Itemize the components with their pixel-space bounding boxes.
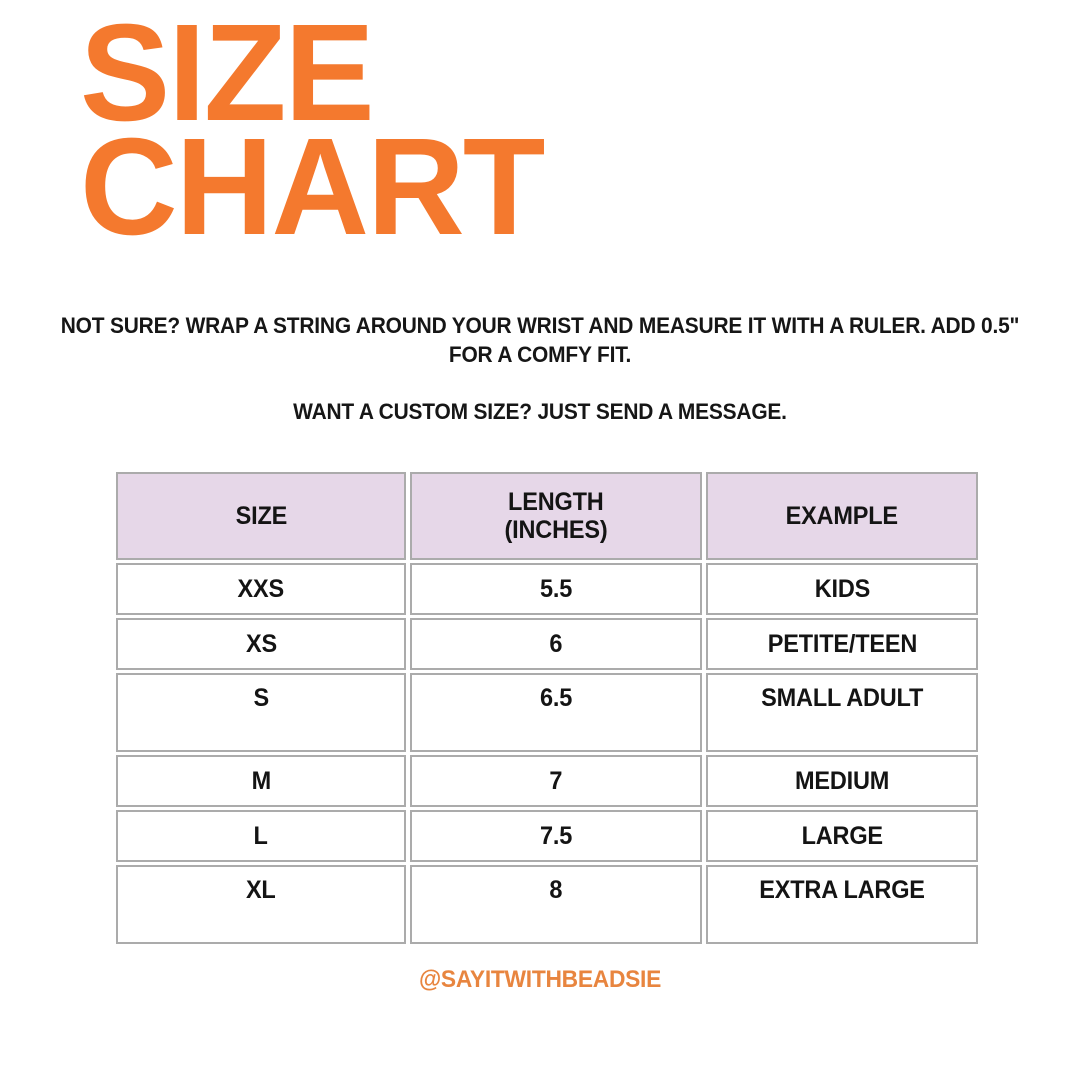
cell-example-value: MEDIUM bbox=[795, 767, 889, 796]
table-body: XXS 5.5 KIDS XS 6 PETITE/TEEN S 6.5 SMAL… bbox=[116, 563, 978, 944]
cell-example: EXTRA LARGE bbox=[706, 865, 978, 944]
size-chart-page: SIZE CHART NOT SURE? WRAP A STRING AROUN… bbox=[0, 0, 1080, 1080]
cell-example-value: EXTRA LARGE bbox=[759, 876, 924, 905]
cell-length: 6 bbox=[410, 618, 702, 670]
intro-paragraph-custom-size: WANT A CUSTOM SIZE? JUST SEND A MESSAGE. bbox=[45, 398, 1035, 427]
cell-size-value: M bbox=[251, 767, 270, 796]
cell-example: LARGE bbox=[706, 810, 978, 862]
cell-length-value: 8 bbox=[550, 876, 563, 905]
table-row: XXS 5.5 KIDS bbox=[116, 563, 978, 615]
cell-length-value: 7.5 bbox=[540, 822, 572, 851]
cell-example: KIDS bbox=[706, 563, 978, 615]
column-header-example: EXAMPLE bbox=[706, 472, 978, 560]
cell-length: 6.5 bbox=[410, 673, 702, 752]
cell-example: MEDIUM bbox=[706, 755, 978, 807]
cell-size: XL bbox=[116, 865, 406, 944]
table-header: SIZE LENGTH (INCHES) EXAMPLE bbox=[116, 472, 978, 560]
cell-size: XS bbox=[116, 618, 406, 670]
column-header-length-label: LENGTH bbox=[508, 488, 603, 516]
cell-length: 8 bbox=[410, 865, 702, 944]
cell-example-value: KIDS bbox=[814, 575, 869, 604]
social-handle: @SAYITWITHBEADSIE bbox=[27, 966, 1053, 994]
cell-example-value: PETITE/TEEN bbox=[767, 630, 916, 659]
cell-length: 5.5 bbox=[410, 563, 702, 615]
table-row: M 7 MEDIUM bbox=[116, 755, 978, 807]
cell-length-value: 6 bbox=[550, 630, 563, 659]
cell-size-value: L bbox=[254, 822, 268, 851]
cell-example: SMALL ADULT bbox=[706, 673, 978, 752]
column-header-size-label: SIZE bbox=[235, 502, 286, 530]
table-row: XL 8 EXTRA LARGE bbox=[116, 865, 978, 944]
cell-length-value: 6.5 bbox=[540, 684, 572, 713]
cell-size-value: XXS bbox=[238, 575, 284, 604]
cell-length-value: 7 bbox=[550, 767, 563, 796]
title-line-chart: CHART bbox=[80, 132, 962, 242]
cell-example: PETITE/TEEN bbox=[706, 618, 978, 670]
cell-size: L bbox=[116, 810, 406, 862]
cell-length: 7 bbox=[410, 755, 702, 807]
intro-paragraph-measure: NOT SURE? WRAP A STRING AROUND YOUR WRIS… bbox=[45, 312, 1035, 370]
table-row: S 6.5 SMALL ADULT bbox=[116, 673, 978, 752]
cell-size-value: XL bbox=[246, 876, 276, 905]
cell-length: 7.5 bbox=[410, 810, 702, 862]
cell-size: S bbox=[116, 673, 406, 752]
cell-size-value: S bbox=[253, 684, 268, 713]
column-header-size: SIZE bbox=[116, 472, 406, 560]
cell-length-value: 5.5 bbox=[540, 575, 572, 604]
column-header-length: LENGTH (INCHES) bbox=[410, 472, 702, 560]
page-title: SIZE CHART bbox=[80, 18, 980, 243]
cell-example-value: LARGE bbox=[801, 822, 882, 851]
column-header-example-label: EXAMPLE bbox=[786, 502, 898, 530]
column-header-length-units: (INCHES) bbox=[421, 516, 692, 544]
cell-example-value: SMALL ADULT bbox=[761, 684, 923, 713]
cell-size-value: XS bbox=[246, 630, 277, 659]
size-chart-table: SIZE LENGTH (INCHES) EXAMPLE XXS 5.5 KID… bbox=[112, 469, 982, 947]
table-row: L 7.5 LARGE bbox=[116, 810, 978, 862]
table-row: XS 6 PETITE/TEEN bbox=[116, 618, 978, 670]
cell-size: XXS bbox=[116, 563, 406, 615]
table-header-row: SIZE LENGTH (INCHES) EXAMPLE bbox=[116, 472, 978, 560]
cell-size: M bbox=[116, 755, 406, 807]
